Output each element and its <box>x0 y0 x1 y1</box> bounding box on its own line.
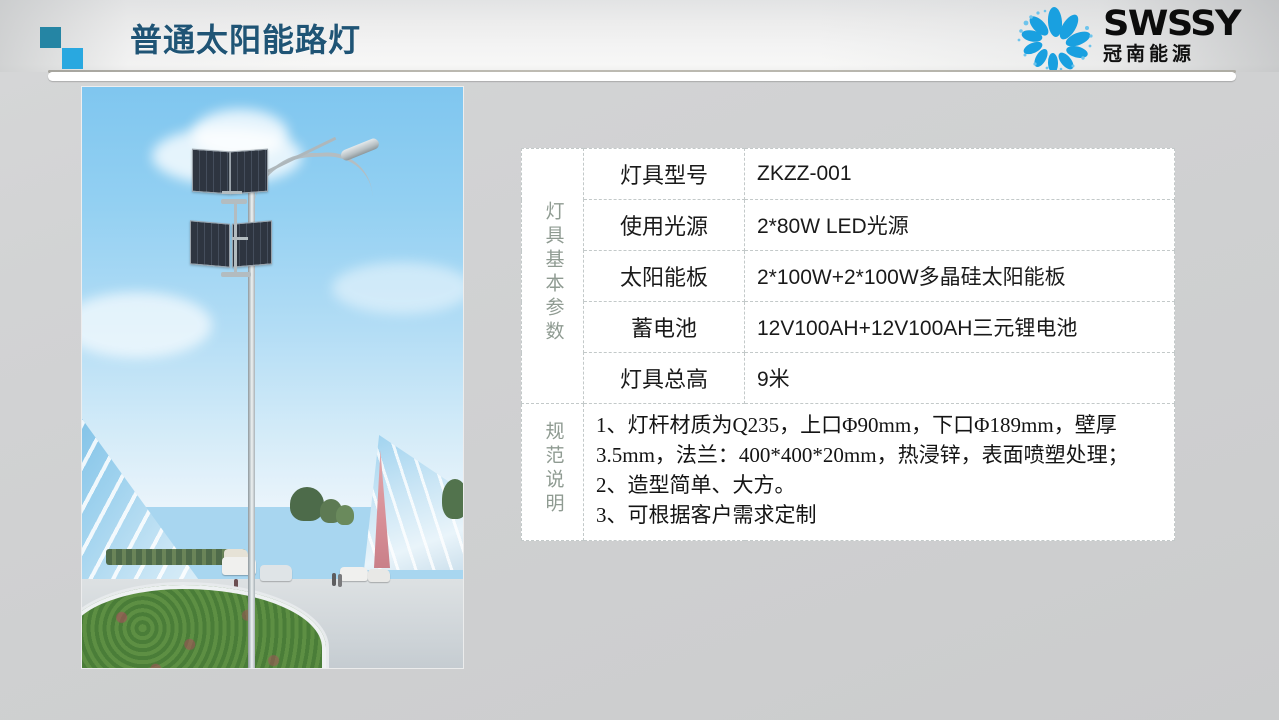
photo-panel-bracket <box>222 191 242 194</box>
table-row: 使用光源 2*80W LED光源 <box>522 200 1175 251</box>
table-row: 蓄电池 12V100AH+12V100AH三元锂电池 <box>522 302 1175 353</box>
row-value: 9米 <box>745 353 1175 404</box>
logo-chinese-name: 冠南能源 <box>1103 43 1259 67</box>
photo-solar-panel <box>192 149 230 195</box>
header-divider <box>48 72 1236 81</box>
photo-pedestrian <box>332 573 336 586</box>
row-key: 太阳能板 <box>584 251 745 302</box>
photo-tree <box>290 487 324 521</box>
photo-solar-panel <box>190 220 230 267</box>
photo-tree <box>336 505 354 525</box>
notes-cell: 1、灯杆材质为Q235，上口Φ90mm，下口Φ189mm，壁厚3.5mm，法兰：… <box>584 404 1175 541</box>
table-row: 灯具基本参数 灯具型号 ZKZZ-001 <box>522 149 1175 200</box>
row-key: 使用光源 <box>584 200 745 251</box>
notes-text: 1、灯杆材质为Q235，上口Φ90mm，下口Φ189mm，壁厚3.5mm，法兰：… <box>596 410 1164 530</box>
row-key: 灯具总高 <box>584 353 745 404</box>
table-row: 太阳能板 2*100W+2*100W多晶硅太阳能板 <box>522 251 1175 302</box>
group-label-notes: 规范说明 <box>522 404 584 541</box>
photo-tree <box>442 479 463 519</box>
photo-panel-bracket <box>234 204 237 240</box>
logo-text-block: SWSSY 冠南能源 <box>1103 6 1259 70</box>
logo-wordmark: SWSSY <box>1103 6 1267 42</box>
row-value: 2*80W LED光源 <box>745 200 1175 251</box>
square-light <box>62 48 83 69</box>
photo-panel-bracket <box>234 237 237 275</box>
table-row: 灯具总高 9米 <box>522 353 1175 404</box>
photo-car <box>368 569 390 582</box>
photo-pedestrian <box>338 574 342 587</box>
company-logo: SWSSY 冠南能源 <box>1011 4 1261 72</box>
row-value: 12V100AH+12V100AH三元锂电池 <box>745 302 1175 353</box>
slide-canvas: 普通太阳能路灯 <box>0 0 1279 720</box>
row-value: ZKZZ-001 <box>745 149 1175 200</box>
solar-street-light-photo <box>82 87 463 668</box>
photo-solar-panel <box>230 149 268 195</box>
table-row-notes: 规范说明 1、灯杆材质为Q235，上口Φ90mm，下口Φ189mm，壁厚3.5m… <box>522 404 1175 541</box>
square-dark <box>40 27 61 48</box>
photo-car <box>340 567 368 581</box>
water-droplet-burst-icon <box>1011 6 1099 70</box>
row-key: 灯具型号 <box>584 149 745 200</box>
photo-solar-panel <box>232 220 272 267</box>
row-value: 2*100W+2*100W多晶硅太阳能板 <box>745 251 1175 302</box>
photo-panel-bracket <box>221 272 251 277</box>
two-squares-icon <box>40 27 98 69</box>
row-key: 蓄电池 <box>584 302 745 353</box>
group-label-basic-params: 灯具基本参数 <box>522 149 584 404</box>
specification-table: 灯具基本参数 灯具型号 ZKZZ-001 使用光源 2*80W LED光源 太阳… <box>521 148 1175 541</box>
photo-car <box>260 565 292 581</box>
photo-cloud <box>332 262 463 314</box>
page-title: 普通太阳能路灯 <box>130 18 361 62</box>
